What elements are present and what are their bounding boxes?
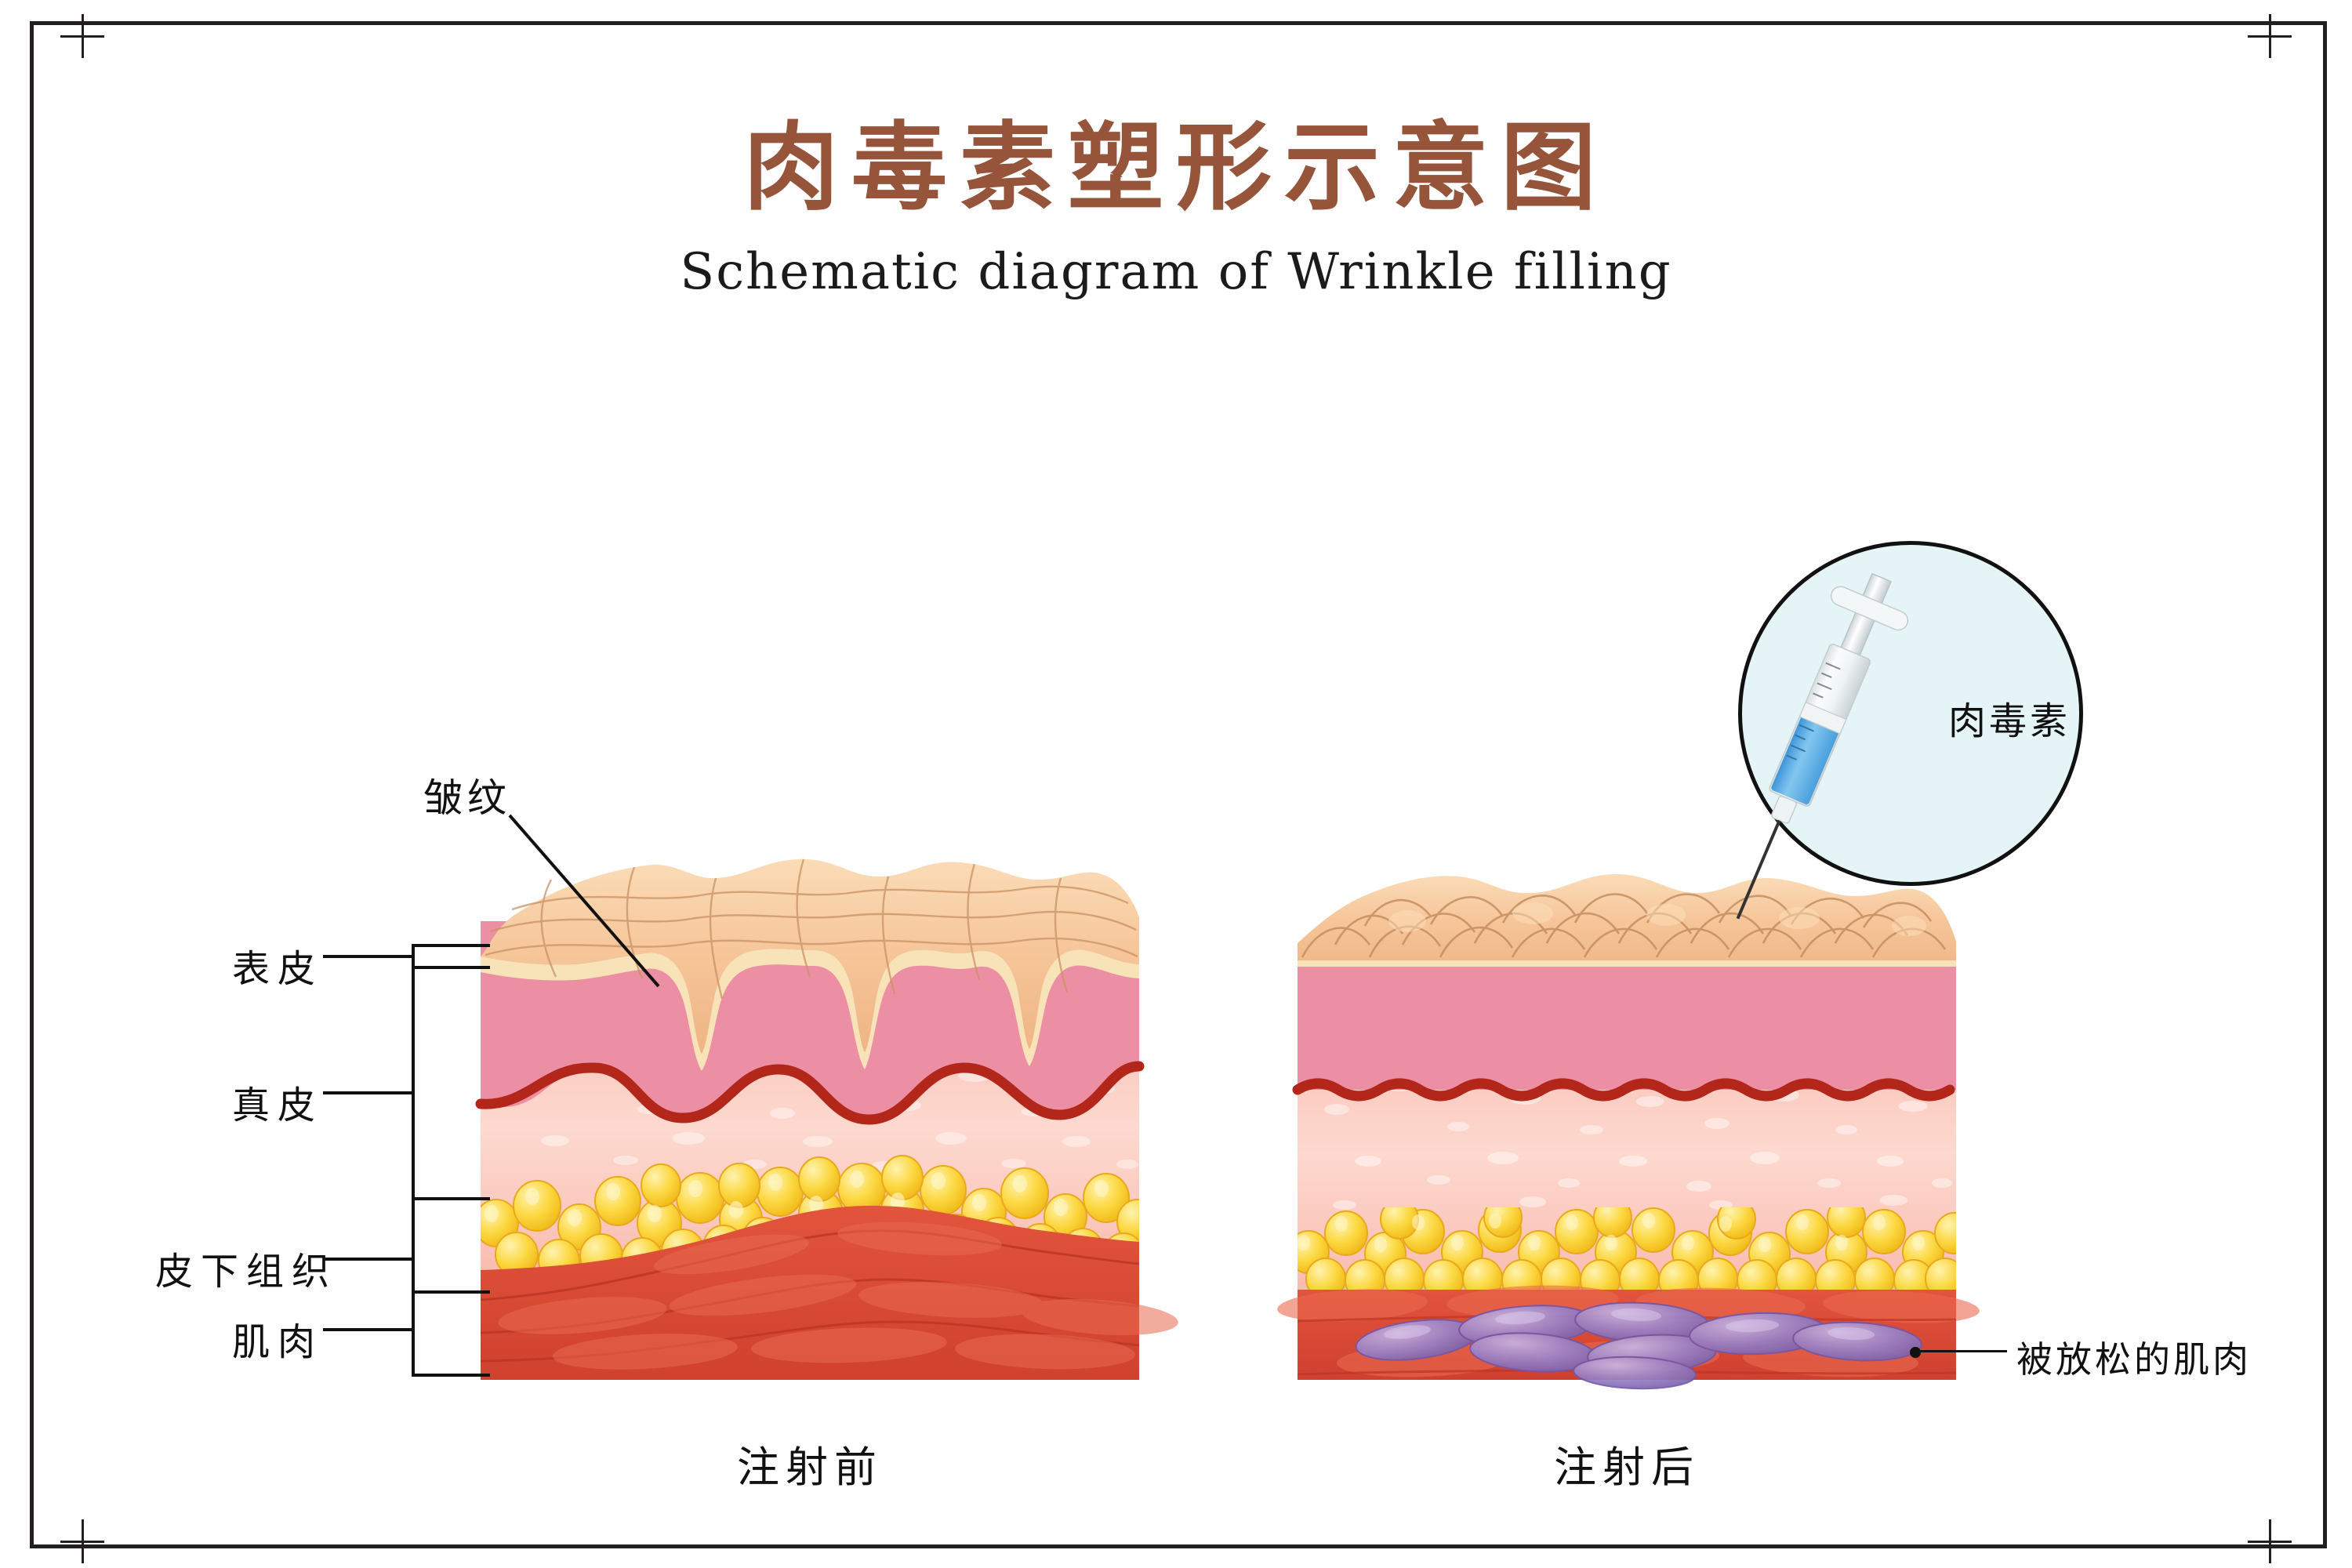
syringe-illustration [1738, 541, 2161, 964]
crop-mark-bottom-left [60, 1519, 104, 1563]
magnifier-label-botulinum: 肉毒素 [1948, 690, 2071, 745]
callout-label-wrinkle: 皱纹 [423, 767, 511, 823]
bracket-epidermis-bottom [412, 966, 490, 969]
caption-before-injection: 注射前 [575, 1432, 1045, 1494]
layer-label-dermis: 真皮 [232, 1074, 323, 1129]
leader-line-epidermis [323, 955, 412, 958]
bracket-hypodermis-bottom [412, 1290, 490, 1294]
page-subtitle-english: Schematic diagram of Wrinkle filling [0, 243, 2352, 301]
callout-leader-wrinkle [502, 808, 674, 996]
crop-mark-bottom-right [2248, 1519, 2292, 1563]
leader-line-hypodermis [323, 1258, 412, 1261]
leader-line-dermis [323, 1091, 412, 1094]
bracket-muscle-bottom [412, 1374, 490, 1377]
bracket-vertical-rail [412, 944, 415, 1377]
layer-label-hypodermis: 皮下组织 [155, 1240, 337, 1295]
callout-leader-relaxed-muscle [1918, 1350, 2007, 1352]
layer-label-muscle: 肌肉 [232, 1311, 323, 1366]
crop-mark-top-right [2248, 14, 2292, 58]
diagram-canvas: 肉毒素塑形示意图 Schematic diagram of Wrinkle fi… [0, 0, 2352, 1568]
callout-label-relaxed-muscle: 被放松的肌肉 [2016, 1331, 2252, 1383]
caption-after-injection: 注射后 [1392, 1432, 1862, 1494]
bracket-top-epidermis [412, 944, 490, 947]
layer-label-epidermis: 表皮 [232, 938, 323, 993]
bracket-dermis-bottom [412, 1197, 490, 1200]
page-title-chinese: 肉毒素塑形示意图 [0, 118, 2352, 218]
leader-line-muscle [323, 1328, 412, 1331]
crop-mark-top-left [60, 14, 104, 58]
